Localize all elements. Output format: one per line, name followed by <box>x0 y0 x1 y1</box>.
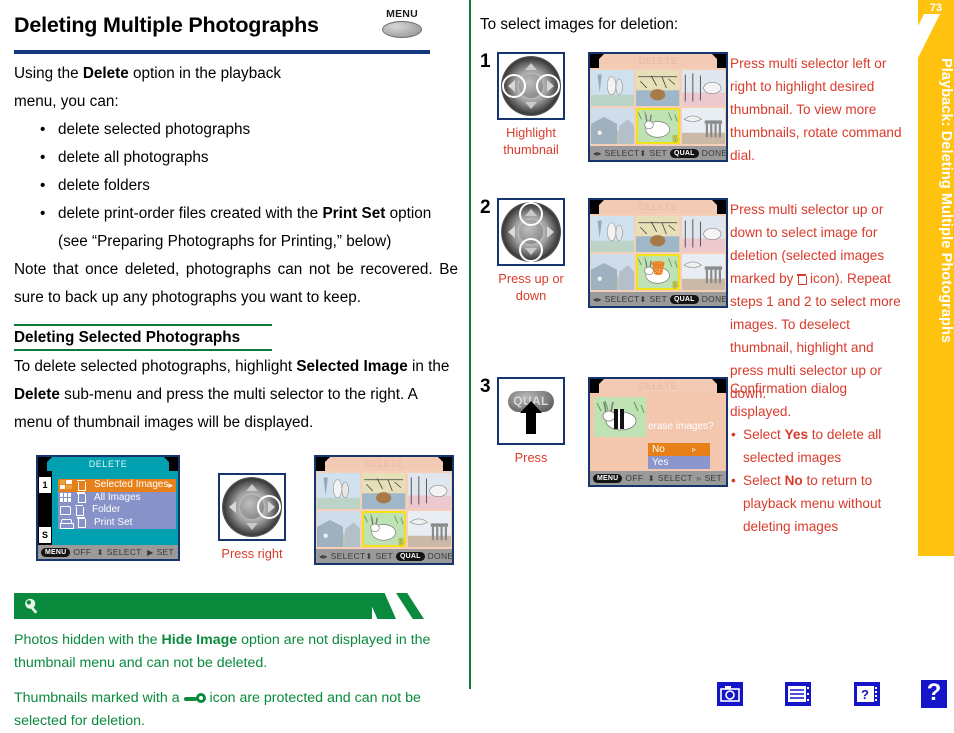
dpad-left-icon[interactable] <box>229 501 236 513</box>
qual-pill-icon: QUAL <box>670 295 699 304</box>
dpad-down-icon[interactable] <box>246 523 258 530</box>
updown-glyph-icon: ⬍ <box>640 295 647 304</box>
footer-set-label: SET <box>376 551 393 561</box>
step-1-control: Highlight thumbnail <box>497 52 565 158</box>
tip-paragraph-2: Thumbnails marked with a icon are protec… <box>14 687 458 733</box>
multi-selector-control[interactable] <box>497 52 565 120</box>
multi-selector-control[interactable] <box>218 473 286 541</box>
thumbnail-cell[interactable] <box>408 511 451 547</box>
updown-glyph-icon: ⬍ <box>640 149 647 158</box>
footer-off-label: OFF <box>73 547 91 557</box>
trash-icon <box>797 274 806 284</box>
tip-bold-hide-image: Hide Image <box>162 632 238 648</box>
proc-text-3: sub-menu and press the multi selector to… <box>14 386 417 431</box>
folder-icon <box>60 506 71 515</box>
thumbnail-body: 5 <box>590 68 726 146</box>
lightbulb-icon <box>23 597 41 615</box>
lcd-titlebar: DELETE <box>38 457 178 471</box>
list-item: delete folders <box>36 172 458 200</box>
step-1-screenshot: DELETE 5 <box>588 52 728 162</box>
subhead-text: Deleting Selected Photographs <box>14 326 272 349</box>
step-number: 2 <box>480 198 491 218</box>
footer-select-label: SELECT <box>605 148 640 158</box>
proc-bold-selected-image: Selected Image <box>296 358 407 375</box>
delete-menu-screen: DELETE 1 S Selected Images ▸ <box>36 455 180 561</box>
list-item: Select No to return to playback menu wit… <box>730 469 905 538</box>
key-icon <box>184 693 206 703</box>
right-glyph-icon: ▹ <box>697 474 701 483</box>
left-figure-row: DELETE 1 S Selected Images ▸ <box>14 455 458 575</box>
thumbnail-cell[interactable] <box>317 473 360 509</box>
highlight-circle-down <box>519 238 543 262</box>
list-item: delete print-order files created with th… <box>36 200 446 256</box>
updown-glyph-icon: ⬍ <box>648 474 655 483</box>
bullet-bold-printset: Print Set <box>322 205 385 222</box>
all-images-icon <box>60 493 73 503</box>
thumbnail-cell[interactable] <box>362 473 405 509</box>
thumbnail-body: 🗑 5 <box>590 214 726 292</box>
manual-page: Deleting Multiple Photographs MENU Using… <box>0 0 954 716</box>
thumbnail-cell[interactable] <box>682 70 725 106</box>
bullet-text: delete selected photographs <box>58 121 250 138</box>
thumbnail-body: 5 <box>316 471 452 549</box>
menu-item-label: All Images <box>94 492 141 504</box>
bullet-pre: Select <box>743 473 785 488</box>
footer-done-label: DONE <box>702 148 728 158</box>
lcd-titlebar: DELETE <box>590 54 726 68</box>
lcd-titlebar: DELETE <box>590 379 726 393</box>
menu-pill-icon: MENU <box>41 548 70 557</box>
lcd-title: DELETE <box>316 457 452 471</box>
lcd-titlebar: DELETE <box>590 200 726 214</box>
dpad-down-icon[interactable] <box>525 102 537 109</box>
dpad-up-icon[interactable] <box>246 484 258 491</box>
footer-set-label: SET <box>650 148 667 158</box>
bullet-text: delete folders <box>58 177 150 194</box>
lcd-left-strip: 1 S <box>38 471 52 545</box>
chevron-right-icon: ▸ <box>168 481 173 490</box>
step-2-control: Press up or down <box>497 198 567 304</box>
thumbnail-cell[interactable] <box>591 108 634 144</box>
thumbnail-grid-screen: DELETE <box>314 455 454 565</box>
column-divider <box>469 0 471 689</box>
right-glyph-icon: ▶ <box>147 548 153 557</box>
lcd-titlebar: DELETE <box>316 457 452 471</box>
confirm-option-label: Yes <box>652 457 668 468</box>
thumbnail-cell-selected[interactable]: 5 <box>362 511 405 547</box>
tip-band-slash-2 <box>396 593 424 619</box>
thumbnail-cell-selected[interactable]: 5 <box>636 108 679 144</box>
confirm-body: erase images? No ▹ Yes <box>590 393 726 471</box>
lcd-footer: MENU OFF ⬍ SELECT ▶ SET <box>38 545 178 559</box>
side-tab-label: Playback: Deleting Multiple Photographs <box>918 58 954 538</box>
footer-set-label: SET <box>705 473 722 483</box>
procedure-paragraph: To delete selected photographs, highligh… <box>14 353 458 437</box>
question-mark-icon[interactable]: ? <box>921 680 947 708</box>
step-1: 1 Highlight thumbnail <box>480 52 905 192</box>
lcd-footer: ◂▸ SELECT ⬍ SET QUAL DONE <box>316 549 452 563</box>
lcd-menu-items: Selected Images ▸ All Images Folder <box>58 479 176 529</box>
step-3-screenshot: DELETE <box>588 377 728 487</box>
list-item: delete all photographs <box>36 144 458 172</box>
bullet-text: delete all photographs <box>58 149 209 166</box>
menu-item-all-images[interactable]: All Images <box>58 492 176 505</box>
confirm-thumbnail <box>594 397 646 437</box>
proc-text-2: in the <box>408 358 450 375</box>
proc-text-1: To delete selected photographs, highligh… <box>14 358 296 375</box>
menu-item-label: Print Set <box>94 517 132 529</box>
footer-set-label: SET <box>650 294 667 304</box>
list-item: delete selected photographs <box>36 116 458 144</box>
updown-glyph-icon: ⬍ <box>97 548 104 557</box>
feature-bullets: delete selected photographs delete all p… <box>14 116 458 256</box>
thumbnail-cell[interactable] <box>682 216 725 252</box>
dpad-right-icon[interactable] <box>547 226 554 238</box>
leftright-glyph-icon: ◂▸ <box>593 149 602 158</box>
step-1-description: Press multi selector left or right to hi… <box>730 52 905 167</box>
confirm-option-yes[interactable]: Yes <box>648 456 710 469</box>
qual-pill-icon: QUAL <box>396 552 425 561</box>
lcd-title: DELETE <box>590 379 726 393</box>
menu-button-icon <box>382 21 422 38</box>
footer-select-label: SELECT <box>605 294 640 304</box>
leftright-glyph-icon: ◂▸ <box>319 552 328 561</box>
proc-bold-delete: Delete <box>14 386 60 403</box>
tip-band-fill <box>14 593 372 619</box>
step-3: 3 QUAL Press DELETE <box>480 377 905 517</box>
right-column: To select images for deletion: 1 Highlig… <box>480 14 905 517</box>
thumbnail-grid: 🗑 5 <box>591 216 725 290</box>
confirm-message: erase images? <box>648 421 714 432</box>
lcd-footer: ◂▸ SELECT ⬍ SET QUAL DONE <box>590 146 726 160</box>
tip-band <box>14 593 414 619</box>
help-filmstrip-icon[interactable]: ? <box>854 682 880 706</box>
step-caption: Press up or down <box>495 270 567 304</box>
lcd-title: DELETE <box>590 200 726 214</box>
tip-box: Photos hidden with the Hide Image option… <box>14 593 458 733</box>
trash-marker-icon: 🗑 <box>650 261 667 274</box>
qual-button-control[interactable]: QUAL <box>497 377 565 445</box>
thumbnail-cell[interactable] <box>591 254 634 290</box>
thumbnail-cell-selected[interactable]: 🗑 5 <box>636 254 679 290</box>
trash-icon <box>76 492 86 503</box>
strip-tag-playback: 1 <box>39 477 51 493</box>
confirm-option-label: No <box>652 444 665 455</box>
step-caption: Press <box>497 449 565 466</box>
camera-icon[interactable] <box>717 682 743 706</box>
thumbnail-cell[interactable] <box>317 511 360 547</box>
menu-button-label: MENU <box>374 8 430 20</box>
lcd-menu-body: 1 S Selected Images ▸ All <box>38 471 178 545</box>
thumbnail-number: 5 <box>673 280 678 290</box>
left-column: Deleting Multiple Photographs MENU Using… <box>14 10 458 733</box>
step-2: 2 Press up or down <box>480 198 905 373</box>
press-arrow-icon <box>526 412 536 434</box>
bullet-pre: Select <box>743 427 785 442</box>
intro-bold-delete: Delete <box>83 65 129 82</box>
thumbnail-cell[interactable] <box>682 108 725 144</box>
leftright-glyph-icon: ◂▸ <box>593 295 602 304</box>
figure-caption-press-right: Press right <box>218 545 286 562</box>
tip-text-pre: Photos hidden with the <box>14 632 162 648</box>
footer-select-label: SELECT <box>107 547 142 557</box>
lcd-footer: MENU OFF ⬍ SELECT ▹ SET <box>590 471 726 485</box>
svg-text:?: ? <box>861 687 869 702</box>
list-item: Select Yes to delete all selected images <box>730 423 905 469</box>
intro-text-pre: Using the <box>14 65 83 82</box>
strip-tag-setup: S <box>39 527 51 543</box>
footer-select-label: SELECT <box>331 551 366 561</box>
side-tab: 73 Playback: Deleting Multiple Photograp… <box>918 0 954 556</box>
step-3-desc-title: Confirmation dialog displayed. <box>730 377 905 423</box>
title-row: Deleting Multiple Photographs MENU <box>14 10 458 48</box>
highlight-circle-left <box>502 74 526 98</box>
step-2-screenshot: DELETE 🗑 5 <box>588 198 728 308</box>
lcd-title: DELETE <box>590 54 726 68</box>
subhead-rule-bottom <box>14 349 272 351</box>
caret-right-icon: ▹ <box>692 443 696 456</box>
highlight-circle-right <box>536 74 560 98</box>
multi-selector-control[interactable] <box>497 198 565 266</box>
thumbnail-grid: 5 <box>317 473 451 547</box>
menu-item-label: Selected Images <box>94 479 169 491</box>
menu-item-label: Folder <box>92 504 120 516</box>
trash-icon <box>74 505 84 516</box>
menu-list-icon[interactable] <box>785 682 811 706</box>
step-2-description: Press multi selector up or down to selec… <box>730 198 905 405</box>
menu-item-selected-images[interactable]: Selected Images ▸ <box>58 479 176 492</box>
highlight-circle-up <box>519 202 543 226</box>
note-paragraph: Note that once deleted, photographs can … <box>14 256 458 312</box>
footer-off-label: OFF <box>625 473 643 483</box>
thumbnail-cell[interactable] <box>682 254 725 290</box>
menu-item-print-set[interactable]: Print Set <box>58 517 176 530</box>
subsection-header: Deleting Selected Photographs <box>14 324 272 351</box>
intro-paragraph: Using the Delete option in the playback … <box>14 60 304 116</box>
print-set-icon <box>60 518 73 528</box>
highlight-circle-right <box>257 495 281 519</box>
updown-glyph-icon: ⬍ <box>366 552 373 561</box>
confirmation-dialog-screen: DELETE <box>588 377 728 487</box>
dpad-up-icon[interactable] <box>525 63 537 70</box>
thumbnail-grid: 5 <box>591 70 725 144</box>
thumbnail-number: 5 <box>673 134 678 144</box>
footer-done-label: DONE <box>702 294 728 304</box>
dpad-left-icon[interactable] <box>508 226 515 238</box>
trash-icon <box>76 517 86 528</box>
step-3-description: Confirmation dialog displayed. Select Ye… <box>730 377 905 538</box>
tip2-text-pre: Thumbnails marked with a <box>14 690 184 706</box>
thumbnail-grid-screen: DELETE 5 <box>588 52 728 162</box>
bullet-bold-no: No <box>785 473 803 488</box>
thumbnail-cell[interactable] <box>636 70 679 106</box>
thumbnail-cell[interactable] <box>408 473 451 509</box>
thumbnail-number: 5 <box>399 537 404 547</box>
menu-pill-icon: MENU <box>593 474 622 483</box>
thumbnail-cell[interactable] <box>591 216 634 252</box>
trash-icon <box>76 480 86 491</box>
footer-select-label: SELECT <box>658 473 693 483</box>
thumbnail-grid-screen-marked: DELETE 🗑 5 <box>588 198 728 308</box>
lcd-footer: ◂▸ SELECT ⬍ SET QUAL DONE <box>590 292 726 306</box>
menu-item-folder[interactable]: Folder <box>58 504 176 517</box>
confirm-option-no[interactable]: No ▹ <box>648 443 710 456</box>
multi-selector-figure-right: Press right <box>218 473 286 562</box>
lcd-title: DELETE <box>38 457 178 471</box>
bullet-text-pre: delete print-order files created with th… <box>58 205 322 222</box>
footer-done-label: DONE <box>428 551 454 561</box>
bullet-bold-yes: Yes <box>785 427 808 442</box>
menu-button-figure: MENU <box>374 8 430 38</box>
selected-images-icon <box>60 480 73 490</box>
step-number: 3 <box>480 377 491 397</box>
thumbnail-cell[interactable] <box>591 70 634 106</box>
qual-pill-icon: QUAL <box>670 149 699 158</box>
step-number: 1 <box>480 52 491 72</box>
tip-paragraph-1: Photos hidden with the Hide Image option… <box>14 629 458 675</box>
bottom-navigation: ? ? <box>690 682 954 712</box>
footer-set-label: SET <box>157 547 174 557</box>
title-underline <box>14 50 430 54</box>
right-intro: To select images for deletion: <box>480 14 905 36</box>
confirm-options: No ▹ Yes <box>648 443 710 469</box>
step-3-bullets: Select Yes to delete all selected images… <box>730 423 905 538</box>
thumbnail-cell[interactable] <box>636 216 679 252</box>
step-3-control: QUAL Press <box>497 377 565 466</box>
page-number: 73 <box>918 2 954 14</box>
step-caption: Highlight thumbnail <box>497 124 565 158</box>
